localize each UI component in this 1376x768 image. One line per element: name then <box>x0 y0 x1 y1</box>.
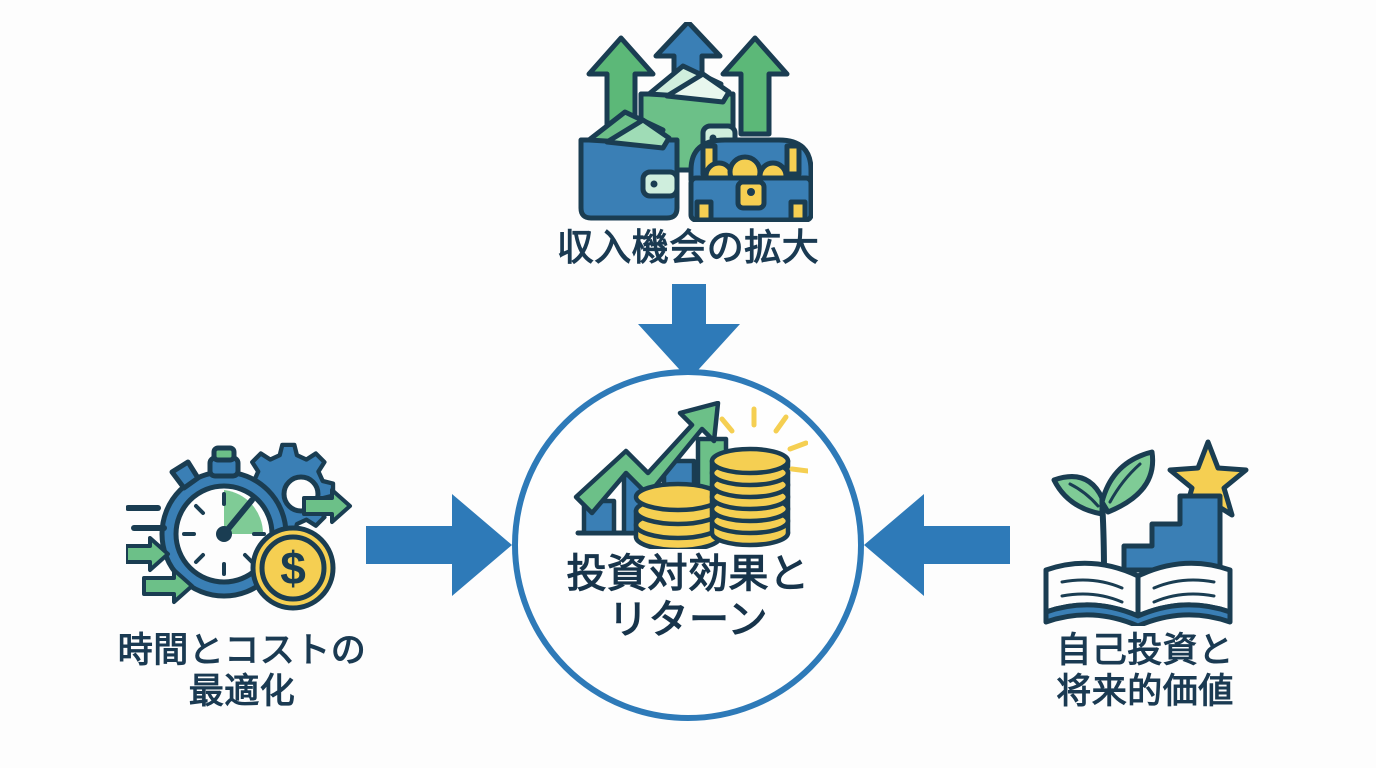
connector-arrow-right <box>366 494 512 596</box>
diagram-canvas: 収入機会の拡大 <box>0 0 1376 768</box>
svg-text:$: $ <box>280 542 306 594</box>
center-hub-label: 投資対効果と リターン <box>567 551 810 644</box>
wallets-treasure-arrows-icon <box>563 22 813 222</box>
growth-chart-coins-icon <box>568 401 808 549</box>
node-self-investment-future-value[interactable]: 自己投資と 将来的価値 <box>1000 436 1290 713</box>
stopwatch-gear-coin-icon: $ <box>126 436 358 626</box>
center-hub[interactable]: 投資対効果と リターン <box>512 369 864 721</box>
node-label-income-opportunity: 収入機会の拡大 <box>557 226 820 270</box>
node-label-self-investment-future-value: 自己投資と 将来的価値 <box>1056 630 1234 713</box>
node-label-time-cost-optimization: 時間とコストの 最適化 <box>118 630 367 713</box>
node-time-cost-optimization[interactable]: $ 時間とコストの 最適化 <box>92 436 392 713</box>
connector-arrow-down <box>628 284 750 382</box>
book-sprout-stairs-star-icon <box>1040 436 1250 626</box>
node-income-opportunity[interactable]: 収入機会の拡大 <box>518 22 858 270</box>
connector-arrow-left <box>864 494 1010 596</box>
